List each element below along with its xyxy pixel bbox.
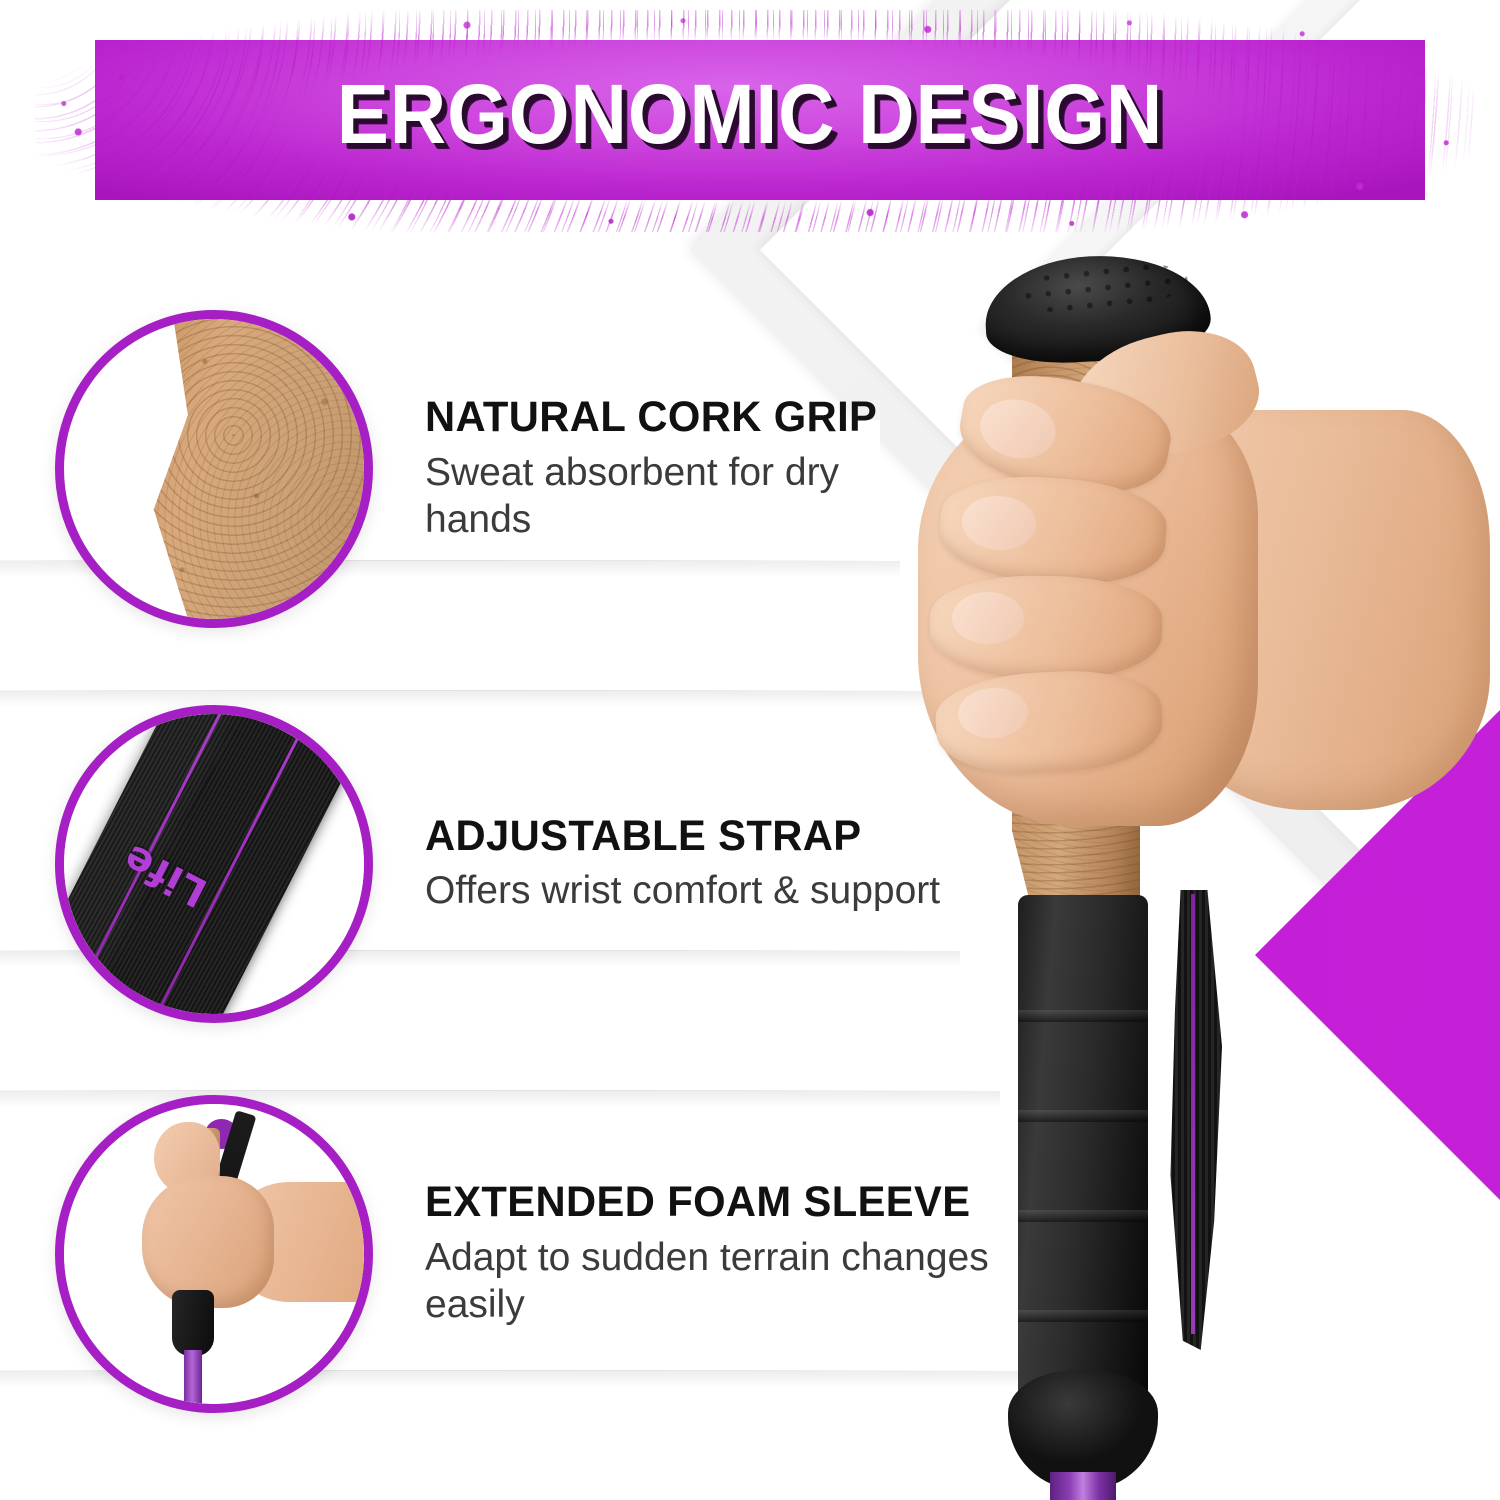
- hand-gripping-pole: [900, 320, 1420, 880]
- header-banner: ERGONOMIC DESIGN: [0, 0, 1500, 250]
- feature-title: ADJUSTABLE STRAP: [425, 813, 925, 859]
- pole-shaft: [1050, 1472, 1116, 1500]
- thumbnail-cork-grip-image: [64, 319, 364, 619]
- foam-thumb-foam-sleeve: [172, 1290, 214, 1356]
- fingernail-ring: [952, 592, 1024, 644]
- feature-row-cork-grip: NATURAL CORK GRIP Sweat absorbent for dr…: [55, 310, 925, 628]
- strap-loop-stitch: [1191, 894, 1195, 1334]
- feature-text-foam-sleeve: EXTENDED FOAM SLEEVE Adapt to sudden ter…: [425, 1179, 1085, 1329]
- feature-row-adjustable-strap: Life ADJUSTABLE STRAP Offers wrist comfo…: [55, 705, 940, 1023]
- thumbnail-foam-sleeve-image: [64, 1104, 364, 1404]
- feature-description: Sweat absorbent for dry hands: [425, 449, 925, 544]
- thumbnail-adjustable-strap: Life: [55, 705, 373, 1023]
- thumbnail-adjustable-strap-image: Life: [64, 714, 364, 1014]
- foam-thumb-fist: [142, 1176, 274, 1308]
- foam-thumb-pole-shaft: [184, 1350, 202, 1404]
- foam-thumb-scene: [64, 1104, 364, 1404]
- feature-row-foam-sleeve: EXTENDED FOAM SLEEVE Adapt to sudden ter…: [55, 1095, 1085, 1413]
- feature-description: Offers wrist comfort & support: [425, 867, 940, 915]
- thumbnail-cork-grip: [55, 310, 373, 628]
- product-infographic: ERGONOMIC DESIGN fe: [0, 0, 1500, 1500]
- cork-texture: [148, 319, 364, 619]
- feature-title: EXTENDED FOAM SLEEVE: [425, 1179, 1065, 1225]
- foam-ridge-1: [1018, 1010, 1148, 1022]
- thumbnail-foam-sleeve: [55, 1095, 373, 1413]
- strap-loop: [1150, 890, 1240, 1350]
- page-title: ERGONOMIC DESIGN: [53, 66, 1448, 163]
- feature-text-cork-grip: NATURAL CORK GRIP Sweat absorbent for dr…: [425, 394, 925, 544]
- feature-description: Adapt to sudden terrain changes easily: [425, 1234, 1085, 1329]
- feature-title: NATURAL CORK GRIP: [425, 394, 910, 440]
- feature-text-adjustable-strap: ADJUSTABLE STRAP Offers wrist comfort & …: [425, 813, 940, 915]
